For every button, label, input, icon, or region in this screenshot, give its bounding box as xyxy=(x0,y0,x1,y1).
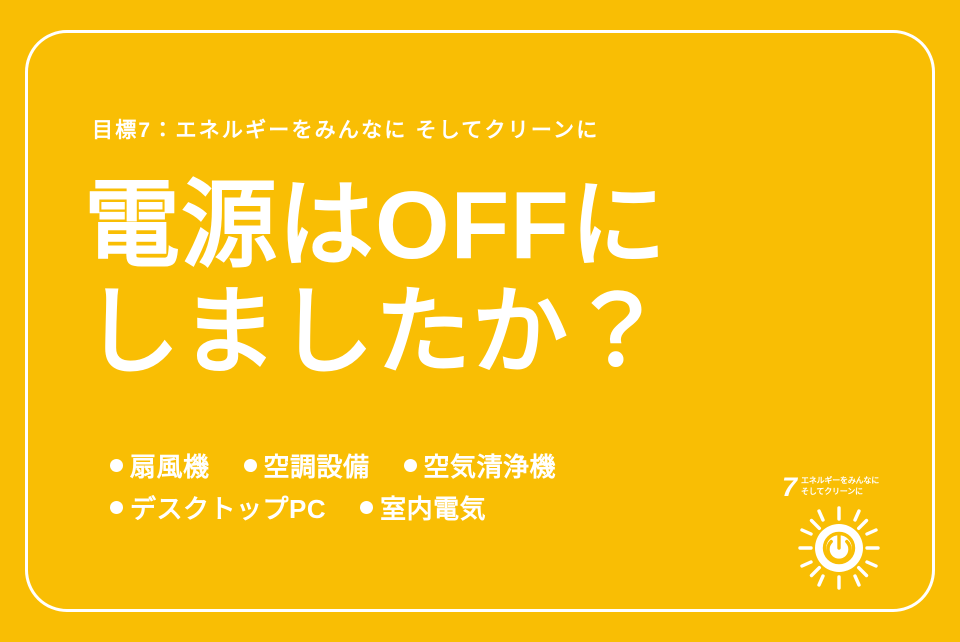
list-item: 室内電気 xyxy=(360,489,486,526)
list-item-label: 室内電気 xyxy=(380,489,486,526)
list-item-label: 空気清浄機 xyxy=(424,447,557,484)
list-item: 扇風機 xyxy=(110,447,210,484)
list-item-label: デスクトップPC xyxy=(130,489,326,526)
list-item: デスクトップPC xyxy=(110,489,326,526)
list-item: 空調設備 xyxy=(244,447,370,484)
bullet-dot-icon xyxy=(110,459,123,472)
sdg-caption-line-1: エネルギーをみんなに xyxy=(801,475,879,486)
poster-canvas: 目標7：エネルギーをみんなに そしてクリーンに 電源はOFFに しましたか？ 扇… xyxy=(0,0,960,642)
bullet-row: デスクトップPC 室内電気 xyxy=(110,486,556,528)
bullet-dot-icon xyxy=(360,501,373,514)
goal-subtitle: 目標7：エネルギーをみんなに そしてクリーンに xyxy=(92,120,599,141)
bullet-dot-icon xyxy=(404,459,417,472)
sdg-caption-line-2: そしてクリーンに xyxy=(801,486,879,497)
bullet-row: 扇風機 空調設備 空気清浄機 xyxy=(110,444,556,486)
sun-power-icon xyxy=(796,506,882,590)
sdg-badge-header: 7 エネルギーをみんなに そしてクリーンに xyxy=(782,474,902,504)
appliance-checklist: 扇風機 空調設備 空気清浄機 デスクトップPC 室内電気 xyxy=(110,444,556,528)
list-item-label: 空調設備 xyxy=(264,447,370,484)
page-title: 電源はOFFに しましたか？ xyxy=(84,172,667,386)
headline-line-2: しましたか？ xyxy=(84,279,667,386)
list-item: 空気清浄機 xyxy=(404,447,557,484)
list-item-label: 扇風機 xyxy=(130,447,210,484)
bullet-dot-icon xyxy=(110,501,123,514)
sdg-goal-number: 7 xyxy=(782,474,796,500)
headline-line-1: 電源はOFFに xyxy=(84,172,667,279)
bullet-dot-icon xyxy=(244,459,257,472)
sdg-goal-caption: エネルギーをみんなに そしてクリーンに xyxy=(801,474,879,497)
sdg-goal-7-badge: 7 エネルギーをみんなに そしてクリーンに xyxy=(782,474,902,592)
